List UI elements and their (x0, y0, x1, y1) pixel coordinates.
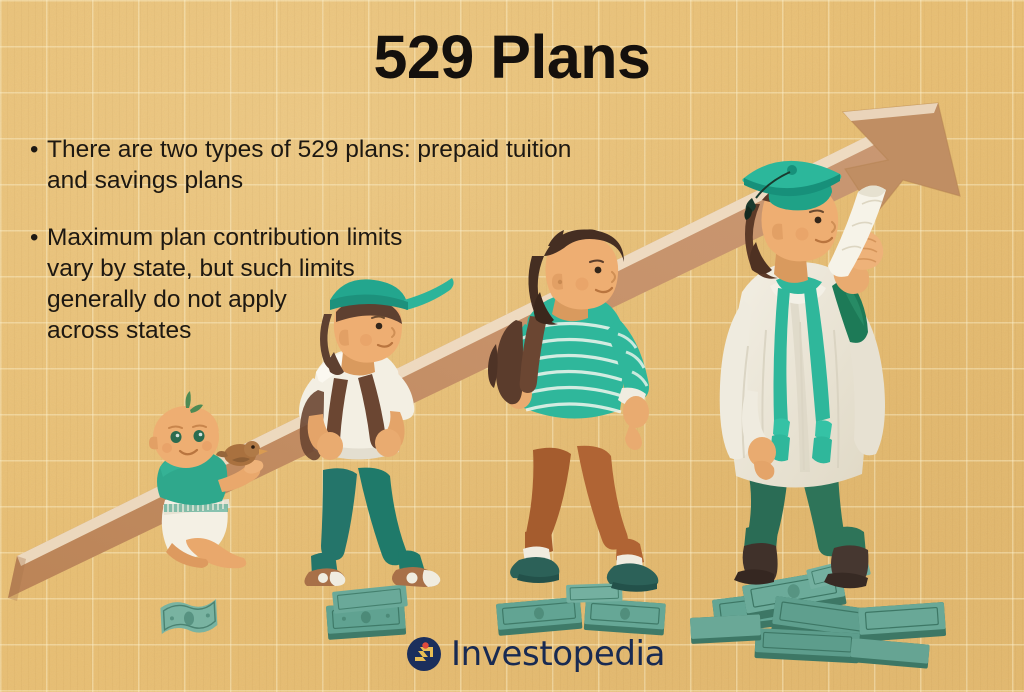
bullet-line: There are two types of 529 plans: prepai… (47, 134, 670, 165)
bullet-line: vary by state, but such limits (47, 253, 670, 284)
investopedia-wordmark: Investopedia (451, 637, 665, 671)
bullet-item-2: • Maximum plan contribution limits vary … (30, 222, 670, 346)
bullet-marker: • (30, 222, 47, 346)
page-title: 529 Plans (0, 22, 1024, 92)
money-bills-group-4 (690, 555, 946, 669)
infographic-canvas: 529 Plans • There are two types of 529 p… (0, 0, 1024, 692)
bullet-item-1: • There are two types of 529 plans: prep… (30, 134, 670, 196)
money-bills-group-2 (326, 584, 408, 640)
money-bills-group-1 (160, 599, 218, 635)
bullet-marker: • (30, 134, 47, 196)
bullet-list: • There are two types of 529 plans: prep… (30, 134, 670, 372)
baby-figure (149, 391, 268, 568)
bullet-line: Maximum plan contribution limits (47, 222, 670, 253)
investopedia-logo: Investopedia (406, 636, 665, 672)
bullet-line: generally do not apply (47, 284, 670, 315)
bullet-line: and savings plans (47, 165, 670, 196)
bullet-text-2: Maximum plan contribution limits vary by… (47, 222, 670, 346)
bullet-line: across states (47, 315, 670, 346)
bullet-text-1: There are two types of 529 plans: prepai… (47, 134, 670, 196)
investopedia-mark-icon (406, 636, 442, 672)
